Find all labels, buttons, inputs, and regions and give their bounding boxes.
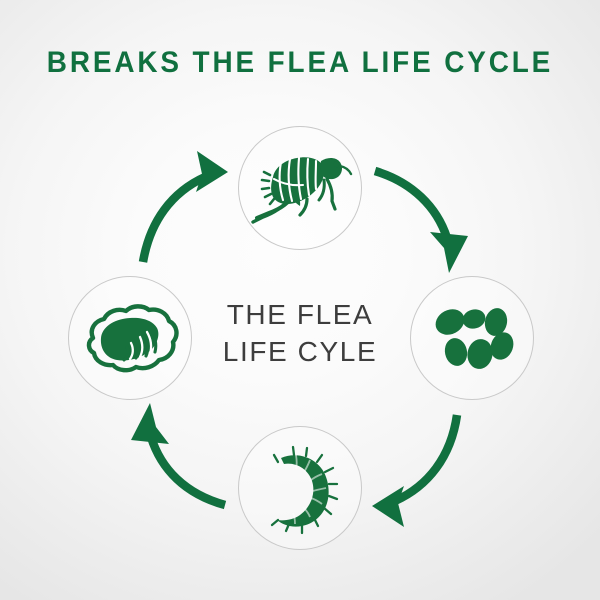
arrow-adult-to-eggs bbox=[375, 171, 468, 273]
arrow-pupa-to-adult bbox=[143, 151, 228, 262]
flea-pupa-cocoon-icon bbox=[77, 292, 183, 384]
page-title: BREAKS THE FLEA LIFE CYCLE bbox=[21, 46, 579, 80]
stage-circle-adult-flea[interactable] bbox=[238, 126, 362, 250]
flea-larva-icon bbox=[248, 436, 352, 540]
stage-circle-flea-pupa[interactable] bbox=[68, 276, 192, 400]
center-label-line-1: THE FLEA bbox=[190, 296, 410, 333]
stage-circle-flea-eggs[interactable] bbox=[410, 276, 534, 400]
stage-circle-flea-larva[interactable] bbox=[238, 426, 362, 550]
flea-eggs-icon bbox=[422, 288, 522, 388]
arrow-larva-to-pupa bbox=[131, 403, 225, 505]
adult-flea-icon bbox=[245, 133, 355, 243]
center-label-line-2: LIFE CYLE bbox=[190, 333, 410, 370]
arrow-eggs-to-larva bbox=[372, 415, 457, 527]
flea-life-cycle-infographic: BREAKS THE FLEA LIFE CYCLE THE FLEA LIFE… bbox=[0, 0, 600, 600]
center-label: THE FLEA LIFE CYLE bbox=[190, 296, 410, 370]
